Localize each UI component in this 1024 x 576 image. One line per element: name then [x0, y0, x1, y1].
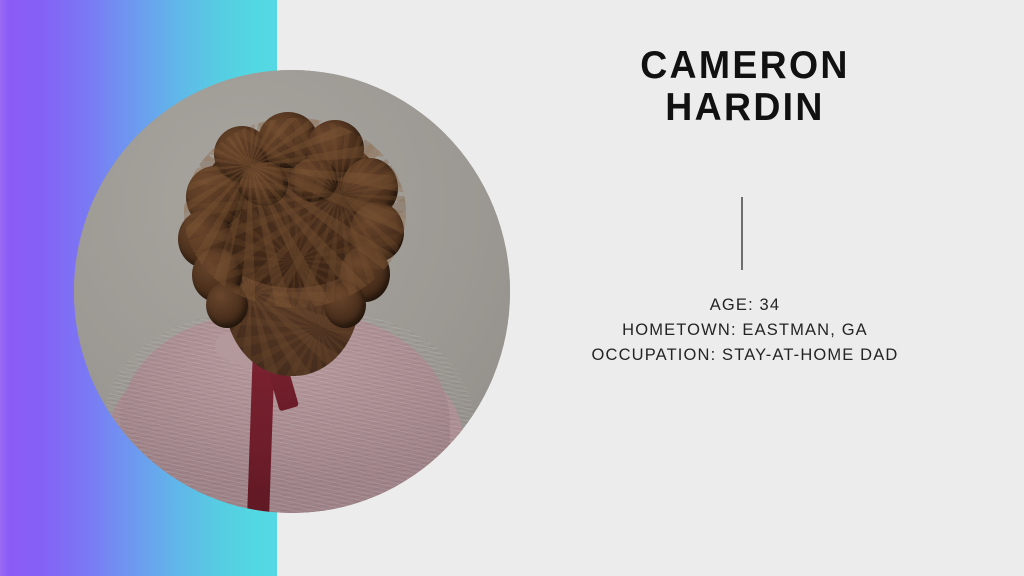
vertical-divider — [741, 197, 743, 270]
detail-hometown: HOMETOWN: EASTMAN, GA — [540, 318, 950, 343]
detail-age: AGE: 34 — [540, 293, 950, 318]
first-name: CAMERON — [548, 48, 942, 84]
profile-card-slide: CAMERON HARDIN AGE: 34 HOMETOWN: EASTMAN… — [0, 0, 1024, 576]
details-block: AGE: 34 HOMETOWN: EASTMAN, GA OCCUPATION… — [540, 293, 950, 368]
profile-photo — [74, 70, 510, 513]
last-name: HARDIN — [548, 90, 942, 126]
detail-occupation: OCCUPATION: STAY-AT-HOME DAD — [540, 343, 950, 368]
person-illustration — [74, 70, 510, 513]
page-title: CAMERON HARDIN — [540, 48, 950, 126]
content-column: CAMERON HARDIN AGE: 34 HOMETOWN: EASTMAN… — [540, 0, 950, 576]
hair-texture — [184, 118, 406, 308]
